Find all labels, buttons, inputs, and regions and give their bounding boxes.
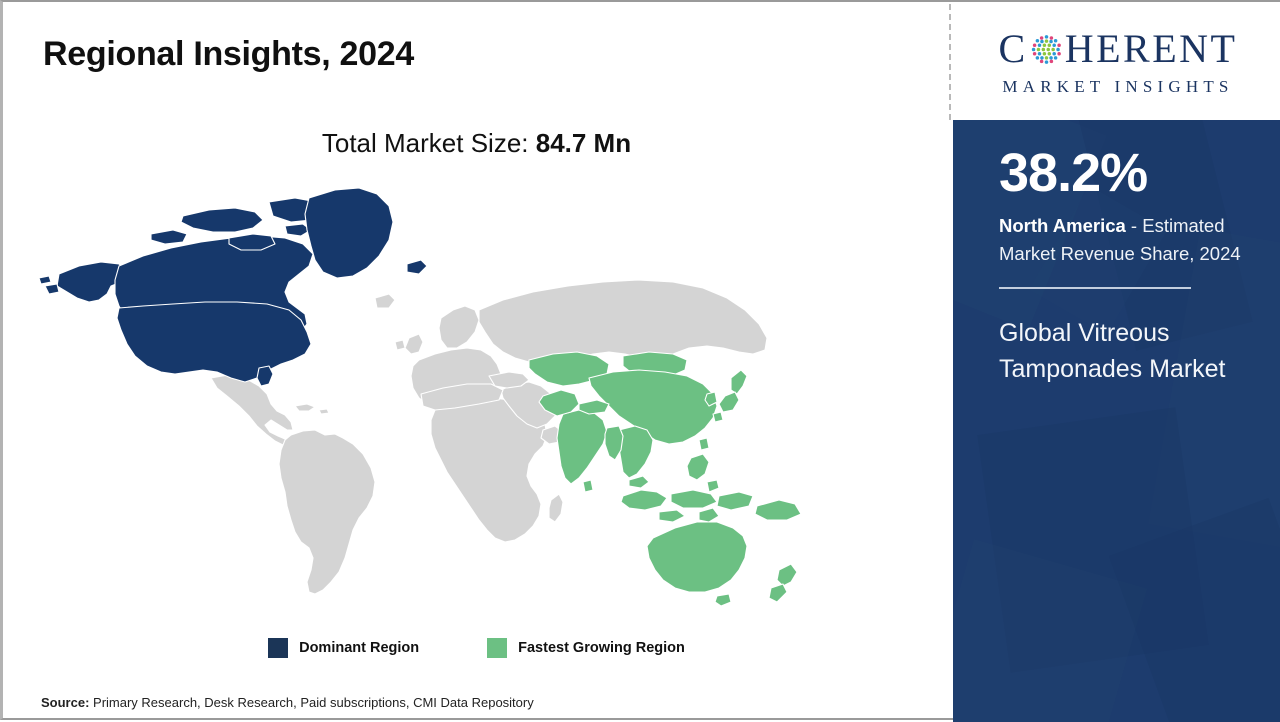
- map-region-north-america: [39, 188, 427, 386]
- square-swatch-icon: [487, 638, 507, 658]
- brand-stats-panel: C: [953, 2, 1280, 722]
- infographic-root: Regional Insights, 2024 Total Market Siz…: [0, 0, 1280, 720]
- total-market-size-value: 84.7 Mn: [536, 128, 631, 158]
- stat-description: North America - Estimated Market Revenue…: [999, 212, 1265, 268]
- logo-subtitle: MARKET INSIGHTS: [1002, 77, 1233, 97]
- map-region-asia-pacific: [529, 352, 801, 606]
- world-map-svg: [23, 182, 923, 622]
- dotted-globe-icon: [1029, 32, 1064, 67]
- legend-label-dominant: Dominant Region: [299, 640, 419, 656]
- stat-percentage: 38.2%: [999, 146, 1265, 200]
- stat-divider: [999, 287, 1191, 289]
- legend-label-fastest-growing: Fastest Growing Region: [518, 640, 685, 656]
- stat-region-name: North America: [999, 215, 1126, 236]
- legend-item-fastest-growing: Fastest Growing Region: [487, 638, 685, 658]
- stats-content: 38.2% North America - Estimated Market R…: [999, 146, 1265, 388]
- panel-divider: [949, 4, 951, 120]
- map-panel: Regional Insights, 2024 Total Market Siz…: [3, 2, 950, 718]
- square-swatch-icon: [268, 638, 288, 658]
- logo: C: [953, 2, 1280, 120]
- world-map: [23, 182, 923, 622]
- source-label: Source:: [41, 695, 89, 710]
- total-market-size-label: Total Market Size:: [322, 128, 536, 158]
- legend-item-dominant: Dominant Region: [268, 638, 419, 658]
- total-market-size: Total Market Size: 84.7 Mn: [3, 128, 950, 159]
- logo-word-after: HERENT: [1065, 29, 1238, 69]
- source-text: Primary Research, Desk Research, Paid su…: [89, 695, 533, 710]
- map-legend: Dominant Region Fastest Growing Region: [3, 638, 950, 658]
- market-name: Global Vitreous Tamponades Market: [999, 315, 1261, 388]
- source-note: Source: Primary Research, Desk Research,…: [41, 695, 534, 710]
- stats-block: 38.2% North America - Estimated Market R…: [953, 120, 1280, 722]
- page-title: Regional Insights, 2024: [43, 35, 414, 74]
- logo-word-before: C: [999, 29, 1028, 69]
- logo-wordmark: C: [999, 25, 1238, 73]
